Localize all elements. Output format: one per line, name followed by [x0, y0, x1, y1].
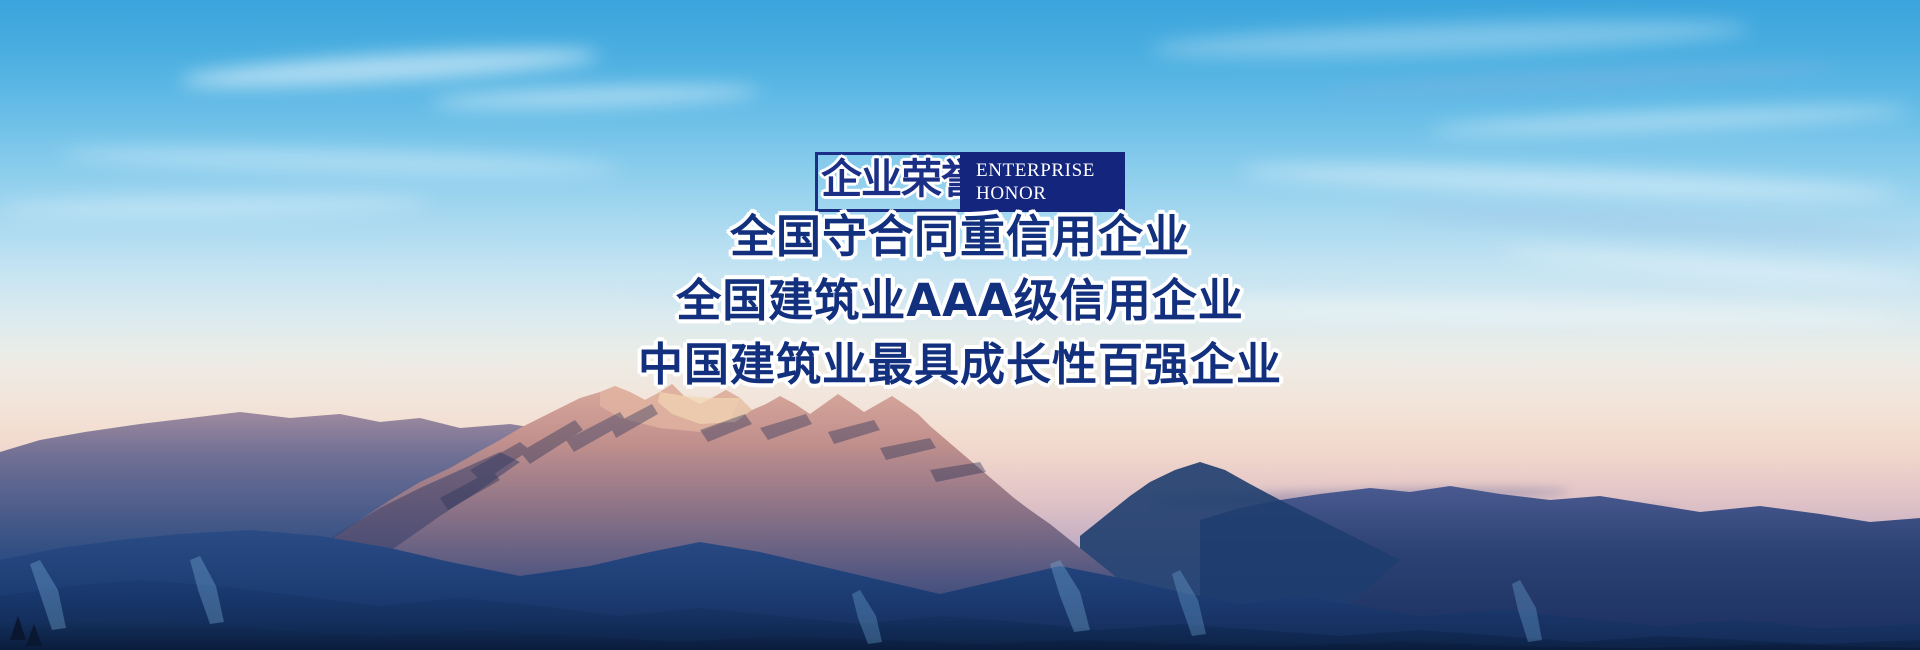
enterprise-label: ENTERPRISE — [976, 159, 1125, 182]
slogan-line-2: 全国建筑业AAA级信用企业 — [0, 269, 1920, 333]
honor-title-lockup: 企业荣誉 ENTERPRISE HONOR — [815, 152, 1125, 212]
banner-content: 企业荣誉 ENTERPRISE HONOR 全国守合同重信用企业 全国建筑业AA… — [0, 0, 1920, 650]
slogan-list: 全国守合同重信用企业 全国建筑业AAA级信用企业 中国建筑业最具成长性百强企业 — [0, 205, 1920, 397]
slogan-line-1: 全国守合同重信用企业 — [0, 205, 1920, 269]
enterprise-honor-box: ENTERPRISE HONOR — [960, 152, 1125, 212]
slogan-line-3: 中国建筑业最具成长性百强企业 — [0, 333, 1920, 397]
honor-label: HONOR — [976, 182, 1125, 205]
honor-title-cn: 企业荣誉 — [821, 149, 981, 209]
enterprise-honor-banner: 企业荣誉 ENTERPRISE HONOR 全国守合同重信用企业 全国建筑业AA… — [0, 0, 1920, 650]
